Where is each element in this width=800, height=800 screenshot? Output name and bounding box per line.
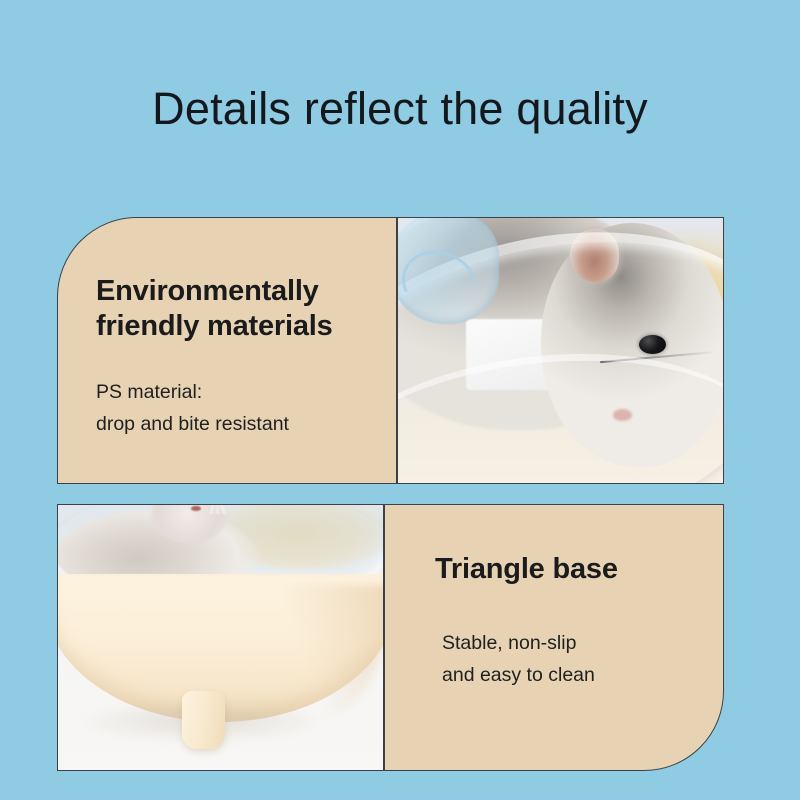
tub-shading-shape: [279, 585, 384, 718]
feature-row-environmentally-friendly: Environmentally friendly materials PS ma…: [57, 217, 724, 484]
feature-card-triangle-base: Triangle base Stable, non-slip and easy …: [384, 504, 724, 771]
cream-base-triangle-foot-photo: [57, 504, 384, 771]
feature-row-triangle-base: Triangle base Stable, non-slip and easy …: [57, 504, 724, 771]
feature-body-line-drop-and-bite-resistant: drop and bite resistant: [96, 408, 376, 440]
triangle-foot-shape: [182, 691, 226, 749]
feature-body-line-easy-to-clean: and easy to clean: [442, 659, 595, 691]
photo-base-foot-scene: [58, 505, 383, 770]
feature-card-environmentally-friendly-materials: Environmentally friendly materials PS ma…: [57, 217, 397, 484]
feature-grid: Environmentally friendly materials PS ma…: [57, 217, 724, 771]
feature-heading-environmentally-friendly-materials: Environmentally friendly materials: [96, 274, 381, 345]
feature-body-line-ps-material: PS material:: [96, 376, 376, 408]
photo-hamster-bowl-scene: [398, 218, 723, 483]
hamster-in-clear-bowl-photo: [397, 217, 724, 484]
feature-body-line-stable-non-slip: Stable, non-slip: [442, 627, 595, 659]
feature-body-triangle-base: Stable, non-slip and easy to clean: [442, 627, 595, 691]
feature-body-environmentally-friendly-materials: PS material: drop and bite resistant: [96, 376, 376, 440]
feature-heading-triangle-base: Triangle base: [435, 552, 618, 587]
page-title: Details reflect the quality: [0, 86, 800, 131]
